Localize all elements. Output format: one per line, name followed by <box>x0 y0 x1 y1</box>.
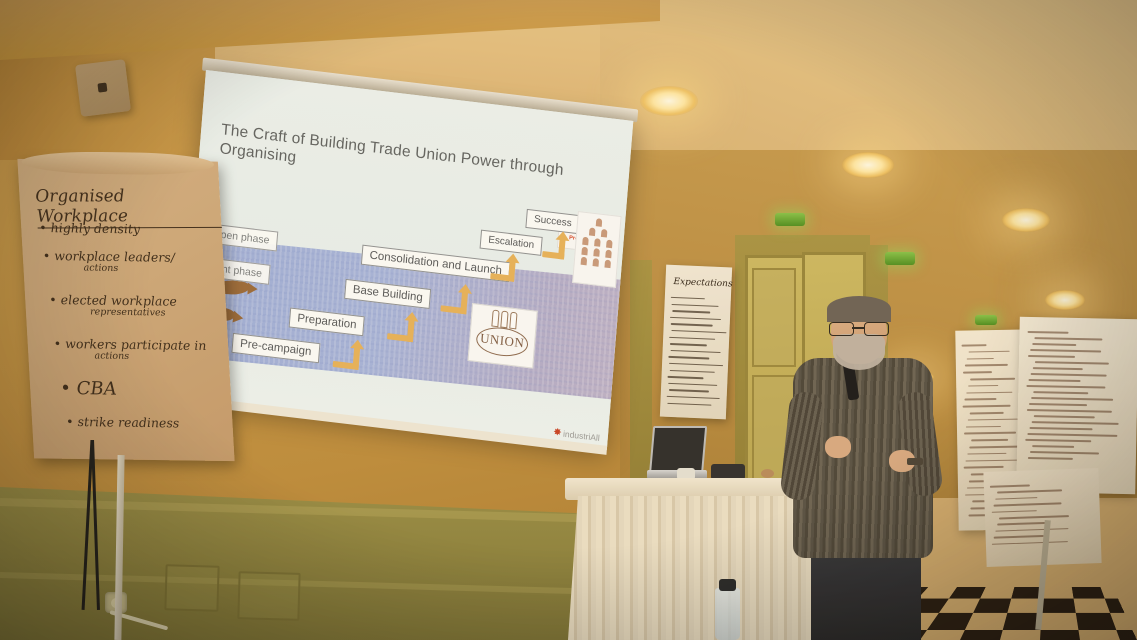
projection-screen: The Craft of Building Trade Union Power … <box>180 70 634 450</box>
stage-escalation: Escalation <box>480 230 543 256</box>
flipchart-item: elected workplacerepresentatives <box>49 293 178 320</box>
stage-success: Success <box>525 209 580 234</box>
screen-surface: The Craft of Building Trade Union Power … <box>180 70 634 450</box>
flipchart-item-text: strike readiness <box>77 414 180 430</box>
desk-cup <box>761 469 774 478</box>
success-icons <box>572 211 621 288</box>
exit-light <box>775 213 805 226</box>
slide: The Craft of Building Trade Union Power … <box>180 70 634 450</box>
ceiling-light <box>1045 290 1085 310</box>
flipchart-item-text: workers participate in <box>65 336 207 353</box>
ceiling-light <box>842 152 894 178</box>
flipchart-expectations-heading: Expectations <box>673 277 732 289</box>
step-arrow-icon <box>490 257 528 283</box>
flipchart-item: workers participate inactions <box>53 337 207 364</box>
presenter-legs <box>811 546 921 640</box>
exit-light <box>975 315 997 325</box>
slide-title: The Craft of Building Trade Union Power … <box>219 120 600 204</box>
wall-speaker-box <box>75 59 131 117</box>
conference-room-scene: The Craft of Building Trade Union Power … <box>0 0 1137 640</box>
presenter-hair <box>827 296 891 322</box>
flipchart-item: CBA <box>60 379 118 400</box>
step-arrow-icon <box>387 315 427 343</box>
flipchart-item: highly density <box>39 221 140 237</box>
flipchart-item-sub: representatives <box>90 308 178 320</box>
glasses-icon <box>829 322 889 334</box>
step-arrow-icon <box>333 343 373 371</box>
flipchart-item-text: workplace leaders/ <box>54 248 176 265</box>
flipchart-item-text: elected workplace <box>60 292 177 309</box>
ceiling-light <box>640 86 698 116</box>
presenter-hand-left <box>825 436 851 458</box>
presenter <box>785 300 945 640</box>
flipchart-left: Organised Workplace highly density workp… <box>17 159 234 461</box>
water-bottle <box>715 588 740 640</box>
speaker-jack-icon <box>97 83 107 93</box>
flipchart-item-sub: actions <box>94 352 207 364</box>
bottle-cap <box>719 579 736 591</box>
flipchart-item-text: highly density <box>50 220 140 236</box>
step-arrow-icon <box>542 235 578 261</box>
flipchart-right-targets <box>1016 317 1137 494</box>
flipchart-item-sub: actions <box>83 264 176 276</box>
ceiling-light <box>1002 208 1050 232</box>
flipchart-item: strike readiness <box>66 415 180 431</box>
presenter-watch <box>907 458 923 465</box>
flipchart-expectations: Expectations <box>660 265 732 420</box>
presentation-table <box>565 478 820 640</box>
presenter-beard <box>833 334 885 370</box>
exit-light <box>885 252 915 265</box>
wainscot-panel <box>237 571 300 621</box>
flipchart-item: workplace leaders/actions <box>42 249 176 276</box>
flipchart-item-text: CBA <box>76 378 117 400</box>
industriall-mark-icon: ✸ <box>553 426 561 438</box>
union-badge: UNION <box>468 303 538 369</box>
table-skirt <box>568 496 817 640</box>
